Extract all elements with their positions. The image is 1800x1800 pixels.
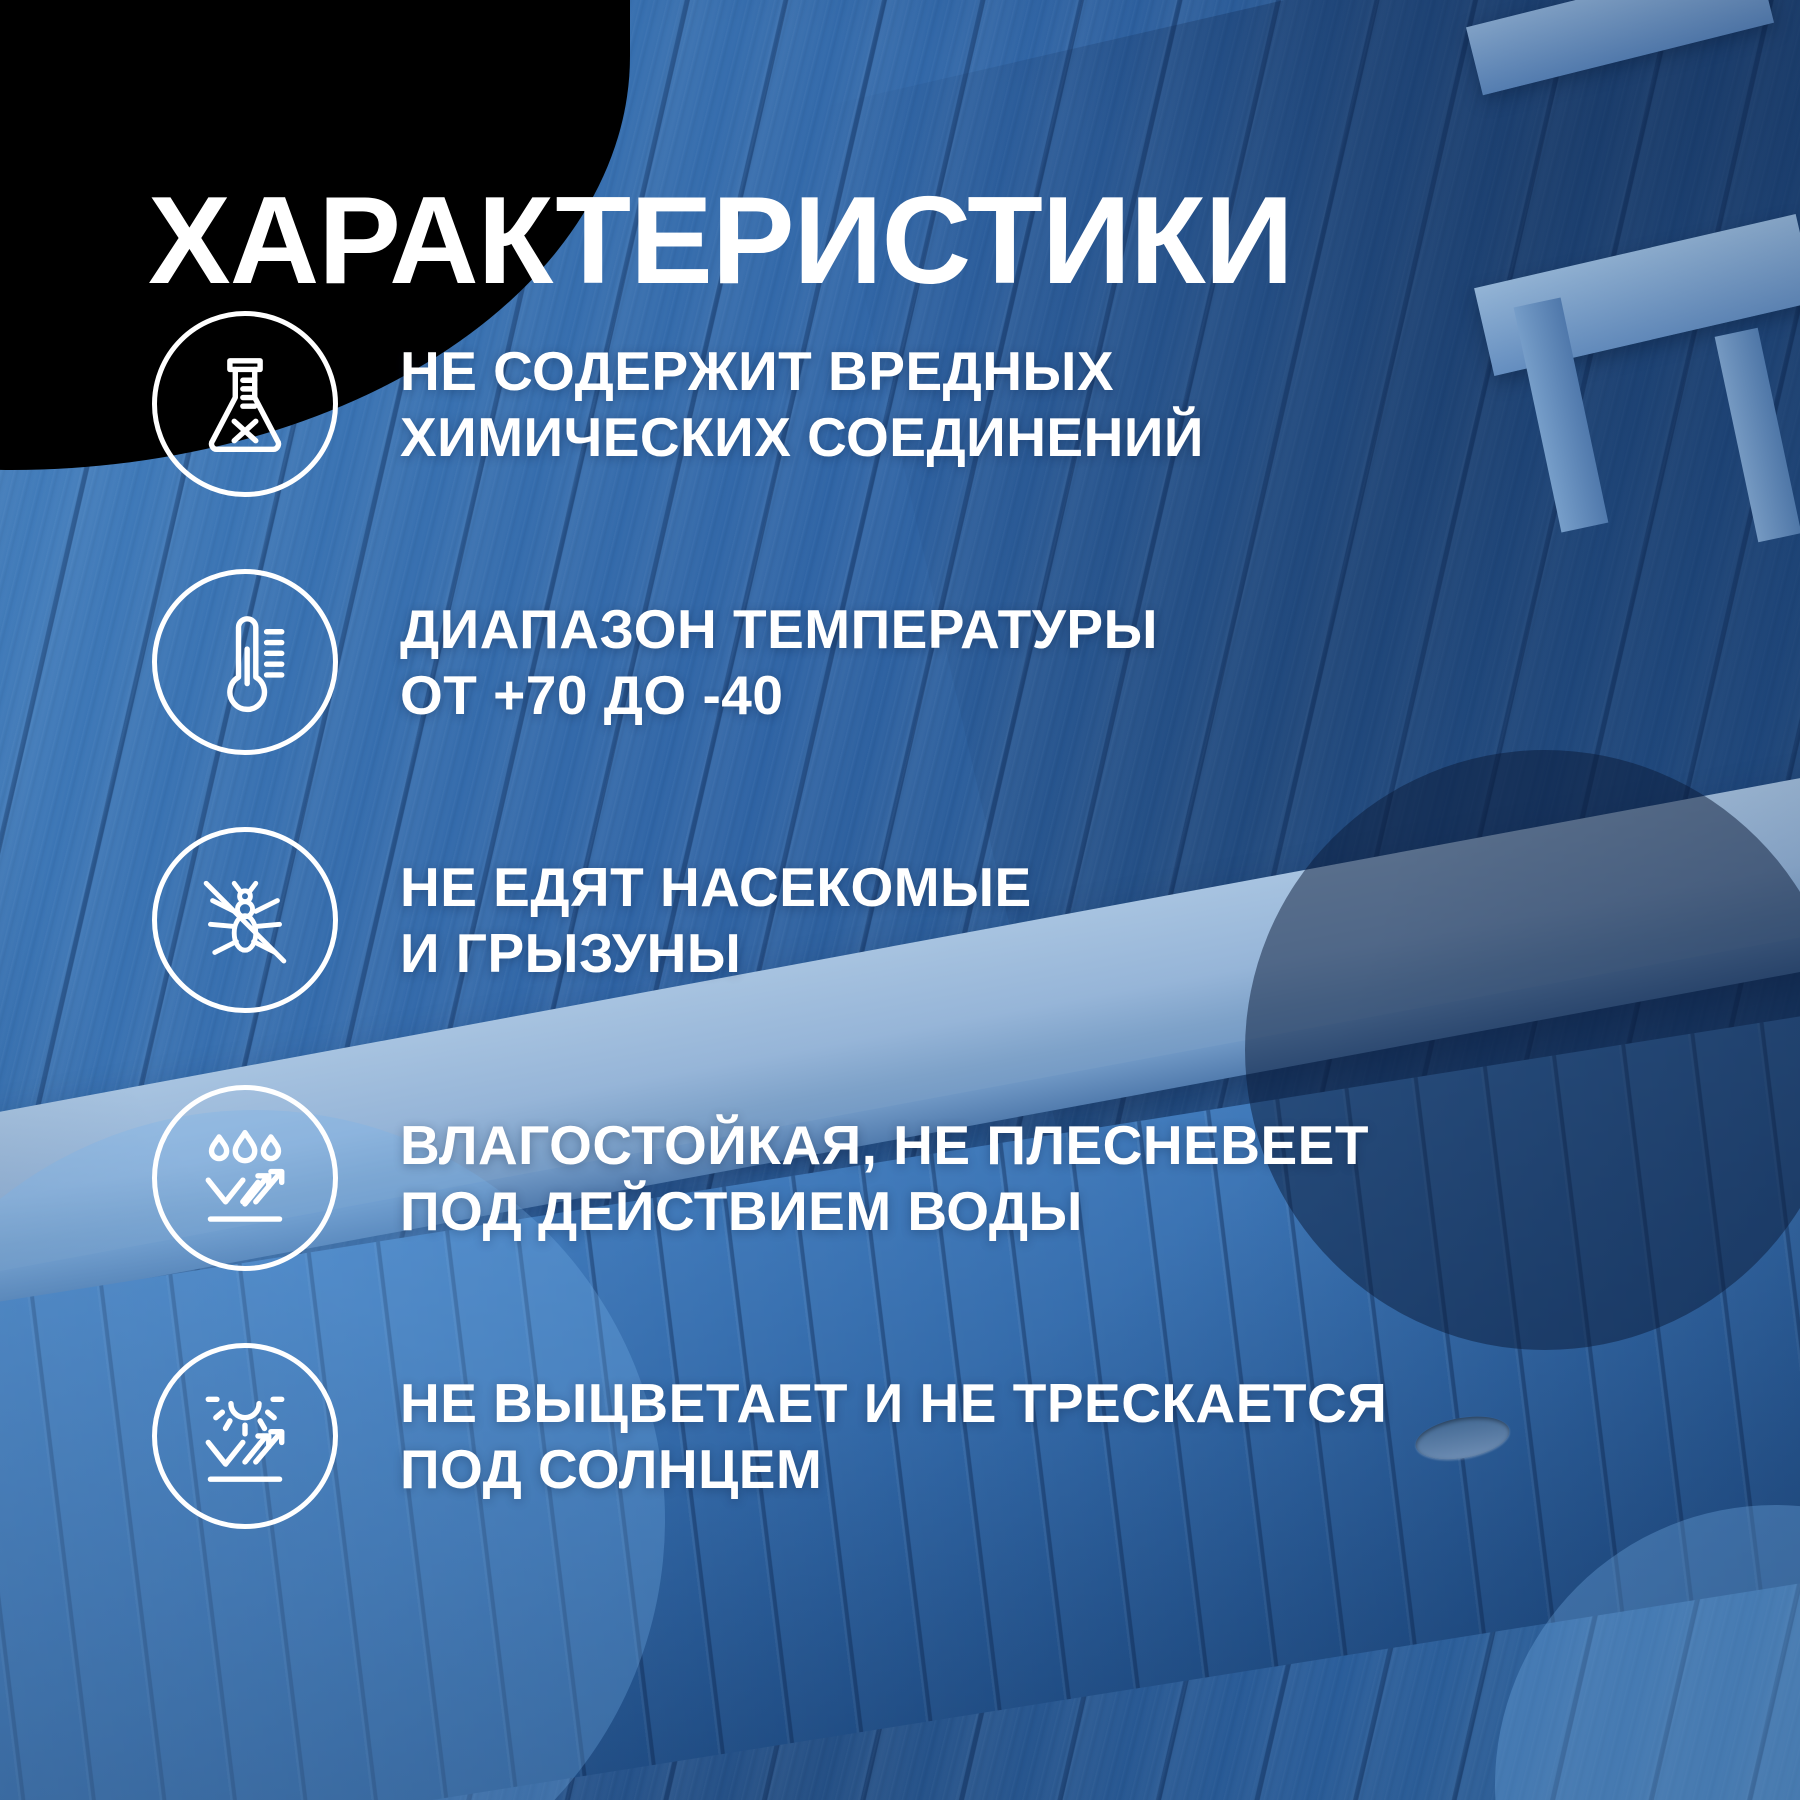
insect-crossed-out-icon bbox=[152, 827, 338, 1013]
feature-line-1: ДИАПАЗОН ТЕМПЕРАТУРЫ bbox=[400, 598, 1158, 660]
feature-item: НЕ ЕДЯТ НАСЕКОМЫЕ И ГРЫЗУНЫ bbox=[152, 822, 1452, 1018]
page-title: ХАРАКТЕРИСТИКИ bbox=[148, 179, 1293, 303]
feature-item: ВЛАГОСТОЙКАЯ, НЕ ПЛЕСНЕВЕЕТ ПОД ДЕЙСТВИЕ… bbox=[152, 1080, 1452, 1276]
feature-item: НЕ СОДЕРЖИТ ВРЕДНЫХ ХИМИЧЕСКИХ СОЕДИНЕНИ… bbox=[152, 306, 1452, 502]
flask-no-chemicals-icon bbox=[152, 311, 338, 497]
feature-text: НЕ СОДЕРЖИТ ВРЕДНЫХ ХИМИЧЕСКИХ СОЕДИНЕНИ… bbox=[400, 338, 1204, 470]
feature-item: НЕ ВЫЦВЕТАЕТ И НЕ ТРЕСКАЕТСЯ ПОД СОЛНЦЕМ bbox=[152, 1338, 1452, 1534]
feature-line-1: НЕ СОДЕРЖИТ ВРЕДНЫХ bbox=[400, 340, 1114, 402]
feature-line-1: НЕ ВЫЦВЕТАЕТ И НЕ ТРЕСКАЕТСЯ bbox=[400, 1372, 1387, 1434]
feature-line-2: ХИМИЧЕСКИХ СОЕДИНЕНИЙ bbox=[400, 404, 1204, 470]
feature-line-2: И ГРЫЗУНЫ bbox=[400, 920, 1032, 986]
feature-line-1: НЕ ЕДЯТ НАСЕКОМЫЕ bbox=[400, 856, 1032, 918]
sun-uv-resistant-icon bbox=[152, 1343, 338, 1529]
feature-line-2: ПОД СОЛНЦЕМ bbox=[400, 1436, 1387, 1502]
feature-item: ДИАПАЗОН ТЕМПЕРАТУРЫ ОТ +70 ДО -40 bbox=[152, 564, 1452, 760]
feature-text: НЕ ЕДЯТ НАСЕКОМЫЕ И ГРЫЗУНЫ bbox=[400, 854, 1032, 986]
thermometer-icon bbox=[152, 569, 338, 755]
infographic-card: ХАРАКТЕРИСТИКИ НЕ СОДЕРЖИТ ВРЕДНЫХ ХИМИЧ… bbox=[0, 0, 1800, 1800]
feature-text: НЕ ВЫЦВЕТАЕТ И НЕ ТРЕСКАЕТСЯ ПОД СОЛНЦЕМ bbox=[400, 1370, 1387, 1502]
feature-text: ВЛАГОСТОЙКАЯ, НЕ ПЛЕСНЕВЕЕТ ПОД ДЕЙСТВИЕ… bbox=[400, 1112, 1369, 1244]
water-droplets-repellent-icon bbox=[152, 1085, 338, 1271]
feature-text: ДИАПАЗОН ТЕМПЕРАТУРЫ ОТ +70 ДО -40 bbox=[400, 596, 1158, 728]
feature-line-1: ВЛАГОСТОЙКАЯ, НЕ ПЛЕСНЕВЕЕТ bbox=[400, 1114, 1369, 1176]
feature-line-2: ОТ +70 ДО -40 bbox=[400, 662, 1158, 728]
feature-line-2: ПОД ДЕЙСТВИЕМ ВОДЫ bbox=[400, 1178, 1369, 1244]
feature-list: НЕ СОДЕРЖИТ ВРЕДНЫХ ХИМИЧЕСКИХ СОЕДИНЕНИ… bbox=[152, 306, 1452, 1534]
